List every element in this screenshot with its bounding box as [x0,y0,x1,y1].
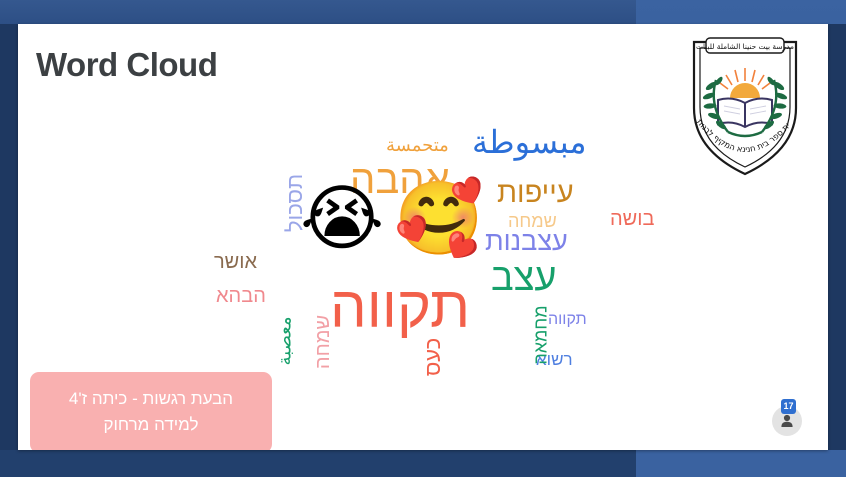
word-cloud-term: הבהא [216,286,266,306]
caption-line-1: הבעת רגשות - כיתה ז'4 [44,386,258,412]
presentation-viewer: Word Cloud مدرسة بيت حنينا الشاملة للبنا… [0,0,846,477]
word-cloud-term: עצב [491,259,557,297]
window-chrome-top-right [636,0,846,24]
caption-line-2: למידה מרחוק [44,412,258,438]
word-cloud-term: معصبة [276,316,294,365]
word-cloud-term: עצבנות [485,228,568,255]
avatar-badge: 17 [781,399,796,414]
school-logo: مدرسة بيت حنينا الشاملة للبنات [680,28,810,178]
word-cloud: תקווהאהבהעצבمبسوطةעייפותעצבנותבושהשמחהمت… [178,104,658,394]
word-cloud-term: מחמאה [532,305,550,364]
window-chrome-right [828,24,846,453]
word-cloud-term: תקווה [548,312,587,328]
word-cloud-term: עייפות [497,179,574,208]
presenter-avatar[interactable]: 17 [772,402,806,436]
word-cloud-term: متحمسة [386,136,449,154]
window-chrome-bottom-right [636,450,846,477]
word-cloud-term: مبسوطة [472,126,587,158]
word-cloud-term: כעס [422,338,444,376]
school-crest-icon: مدرسة بيت حنينا الشاملة للبنات [680,28,810,178]
word-cloud-term: תקווה [330,279,470,337]
word-cloud-emoji: 🥰 [394,182,484,254]
window-chrome-top-left [0,0,636,24]
word-cloud-emoji: 😭 [300,182,384,254]
logo-arabic-banner-text: مدرسة بيت حنينا الشاملة للبنات [696,42,794,51]
slide-canvas: Word Cloud مدرسة بيت حنينا الشاملة للبنا… [18,24,828,450]
window-chrome-left [0,24,18,453]
word-cloud-term: שמחה [313,315,333,369]
person-icon [779,413,795,429]
word-cloud-term: שמחה [508,212,557,230]
page-title: Word Cloud [36,46,217,84]
slide-caption: הבעת רגשות - כיתה ז'4 למידה מרחוק [30,372,272,450]
window-chrome-bottom-left [0,450,636,477]
word-cloud-term: אושר [214,252,257,272]
word-cloud-term: בושה [610,209,654,229]
